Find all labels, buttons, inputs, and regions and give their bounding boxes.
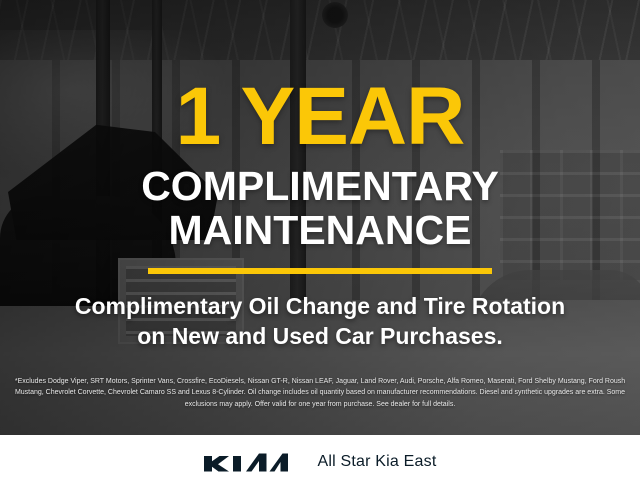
banner-content: 1 YEAR COMPLIMENTARY MAINTENANCE Complim… <box>0 0 640 435</box>
promotional-banner: 1 YEAR COMPLIMENTARY MAINTENANCE Complim… <box>0 0 640 488</box>
offer-subheading-line-1: Complimentary Oil Change and Tire Rotati… <box>75 293 565 319</box>
offer-subheading-line-2: on New and Used Car Purchases. <box>137 323 503 349</box>
offer-subheading: Complimentary Oil Change and Tire Rotati… <box>0 274 640 352</box>
dealer-name: All Star Kia East <box>317 453 436 471</box>
kia-logo <box>203 449 289 475</box>
headline-maintenance: MAINTENANCE <box>0 208 640 252</box>
legal-disclaimer: *Excludes Dodge Viper, SRT Motors, Sprin… <box>14 376 626 410</box>
footer-bar: All Star Kia East <box>0 435 640 488</box>
headline-duration: 1 YEAR <box>0 0 640 156</box>
headline-complimentary: COMPLIMENTARY <box>0 156 640 208</box>
